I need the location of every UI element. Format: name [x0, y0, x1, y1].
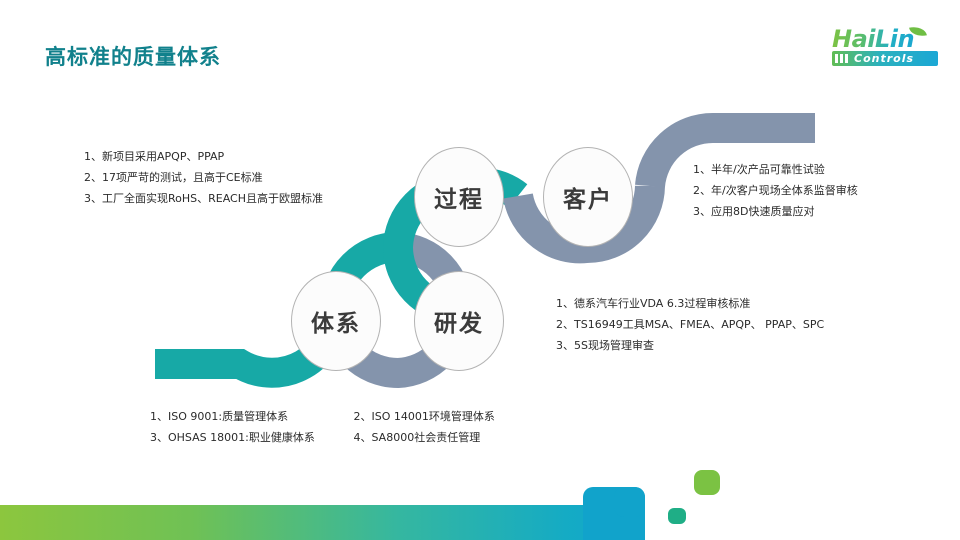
- serpentine-ribbon-diagram: [0, 0, 960, 540]
- node-system[interactable]: 体系: [291, 271, 381, 371]
- node-customer-label: 客户: [563, 180, 613, 214]
- text-block-middle: 1、德系汽车行业VDA 6.3过程审核标准 2、TS16949工具MSA、FME…: [556, 293, 824, 356]
- node-rd[interactable]: 研发: [414, 271, 504, 371]
- list-item: 1、半年/次产品可靠性试验: [693, 159, 858, 180]
- list-item-col2: 4、SA8000社会责任管理: [354, 427, 481, 448]
- deco-square-teal: [668, 508, 686, 524]
- node-system-label: 体系: [311, 304, 361, 338]
- list-item: 3、5S现场管理审查: [556, 335, 824, 356]
- list-item-col1: 3、OHSAS 18001:职业健康体系: [150, 427, 350, 448]
- node-process[interactable]: 过程: [414, 147, 504, 247]
- text-block-right: 1、半年/次产品可靠性试验 2、年/次客户现场全体系监督审核 3、应用8D快速质…: [693, 159, 858, 222]
- text-block-bottom: 1、ISO 9001:质量管理体系 2、ISO 14001环境管理体系 3、OH…: [150, 406, 495, 448]
- footer-gradient-bar: [0, 505, 642, 540]
- list-item-col2: 2、ISO 14001环境管理体系: [354, 406, 495, 427]
- list-item: 2、TS16949工具MSA、FMEA、APQP、 PPAP、SPC: [556, 314, 824, 335]
- list-item: 2、年/次客户现场全体系监督审核: [693, 180, 858, 201]
- list-item: 3、应用8D快速质量应对: [693, 201, 858, 222]
- list-item: 1、ISO 9001:质量管理体系 2、ISO 14001环境管理体系: [150, 406, 495, 427]
- list-item: 2、17项严苛的测试，且高于CE标准: [84, 167, 323, 188]
- text-block-left: 1、新项目采用APQP、PPAP 2、17项严苛的测试，且高于CE标准 3、工厂…: [84, 146, 323, 209]
- node-rd-label: 研发: [434, 304, 484, 338]
- list-item: 3、OHSAS 18001:职业健康体系 4、SA8000社会责任管理: [150, 427, 495, 448]
- list-item-col1: 1、ISO 9001:质量管理体系: [150, 406, 350, 427]
- list-item: 3、工厂全面实现RoHS、REACH且高于欧盟标准: [84, 188, 323, 209]
- slide-canvas: 高标准的质量体系 HaiLin Controls: [0, 0, 960, 540]
- node-process-label: 过程: [434, 180, 484, 214]
- list-item: 1、新项目采用APQP、PPAP: [84, 146, 323, 167]
- list-item: 1、德系汽车行业VDA 6.3过程审核标准: [556, 293, 824, 314]
- node-customer[interactable]: 客户: [543, 147, 633, 247]
- deco-block-blue-small: [614, 487, 645, 517]
- deco-square-green: [694, 470, 720, 495]
